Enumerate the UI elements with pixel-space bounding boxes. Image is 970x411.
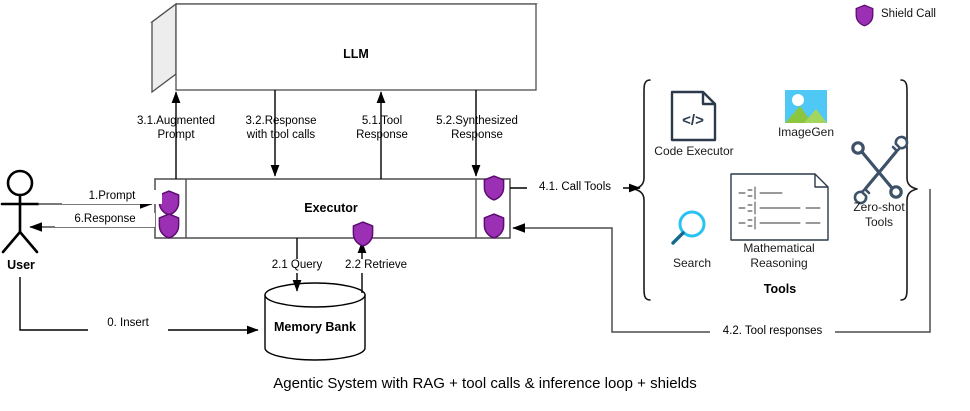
shield-executor-out-right-top <box>484 176 503 200</box>
svg-text:</>: </> <box>682 112 704 129</box>
tool-label-zero-shot-tools: Zero-shot Tools <box>840 200 918 229</box>
legend-label: Shield Call <box>881 8 936 20</box>
memory-bank-label: Memory Bank <box>265 320 365 334</box>
user-head <box>8 171 32 195</box>
shield-executor-out-right-bottom <box>484 214 503 238</box>
edge-insert <box>20 277 258 330</box>
crossed-wrenches-icon <box>853 137 907 203</box>
tools-right-brace <box>901 80 917 300</box>
diagram-canvas: </> <box>0 0 970 411</box>
magnifying-glass-icon <box>673 212 704 243</box>
memory-bank-top <box>265 283 365 307</box>
executor-label: Executor <box>186 201 476 215</box>
shield-executor-in-left-top <box>159 191 178 215</box>
shield-executor-in-left-bottom <box>159 214 178 238</box>
tools-group-label: Tools <box>730 282 830 296</box>
formula-document-icon <box>731 174 828 240</box>
user-leg-left <box>3 232 20 252</box>
legend-shield-icon <box>856 5 873 26</box>
llm-label: LLM <box>176 47 536 61</box>
tool-label-search: Search <box>660 256 724 271</box>
tool-label-mathematical-reasoning: Mathematical Reasoning <box>729 241 829 270</box>
user-actor <box>2 171 38 252</box>
llm-cube-side <box>152 4 176 92</box>
diagram-vector-layer: </> <box>0 0 970 411</box>
tools-left-brace <box>634 80 650 300</box>
diagram-caption: Agentic System with RAG + tool calls & i… <box>0 375 970 392</box>
user-leg-right <box>20 232 37 252</box>
shield-executor-memory <box>353 222 372 246</box>
user-label: User <box>0 258 42 272</box>
tool-label-code-executor: Code Executor <box>648 144 740 159</box>
code-document-icon: </> <box>672 92 715 140</box>
image-picture-icon <box>785 90 827 123</box>
tool-label-imagegen: ImageGen <box>766 125 846 140</box>
